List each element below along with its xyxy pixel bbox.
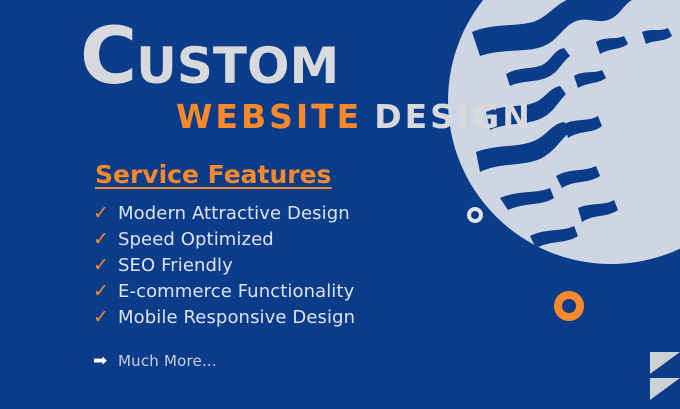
list-item: ✓ Modern Attractive Design [93,203,355,229]
check-icon: ✓ [93,204,118,223]
feature-list: ✓ Modern Attractive Design ✓ Speed Optim… [93,203,355,333]
headline-line-two: WEBSITEDESIGN [176,100,550,133]
feature-label: SEO Friendly [118,255,233,276]
headline-word-design: DESIGN [374,97,533,136]
headline-word-custom: USTOM [136,37,339,95]
banner-canvas: CUSTOM WEBSITEDESIGN Service Features ✓ … [0,0,680,409]
headline-drop-cap: C [80,12,136,102]
section-heading: Service Features [95,160,331,189]
feature-label: Modern Attractive Design [118,203,350,224]
orange-ring-marker [554,291,584,321]
feature-label: E-commerce Functionality [118,281,354,302]
check-icon: ✓ [93,256,118,275]
check-icon: ✓ [93,282,118,301]
triangle-corner-motif [644,350,680,402]
check-icon: ✓ [93,230,118,249]
feature-label: Speed Optimized [118,229,274,250]
headline-line-one: CUSTOM [80,18,550,96]
headline-block: CUSTOM WEBSITEDESIGN [80,18,550,133]
list-item: ✓ Mobile Responsive Design [93,307,355,333]
much-more-label: Much More... [118,352,217,370]
check-icon: ✓ [93,308,118,327]
list-item: ✓ Speed Optimized [93,229,355,255]
list-item: ✓ SEO Friendly [93,255,355,281]
feature-label: Mobile Responsive Design [118,307,355,328]
much-more-row: ➡ Much More... [93,352,217,370]
white-ring-marker [467,207,483,223]
arrow-right-icon: ➡ [93,353,118,370]
headline-word-website: WEBSITE [176,97,362,136]
list-item: ✓ E-commerce Functionality [93,281,355,307]
